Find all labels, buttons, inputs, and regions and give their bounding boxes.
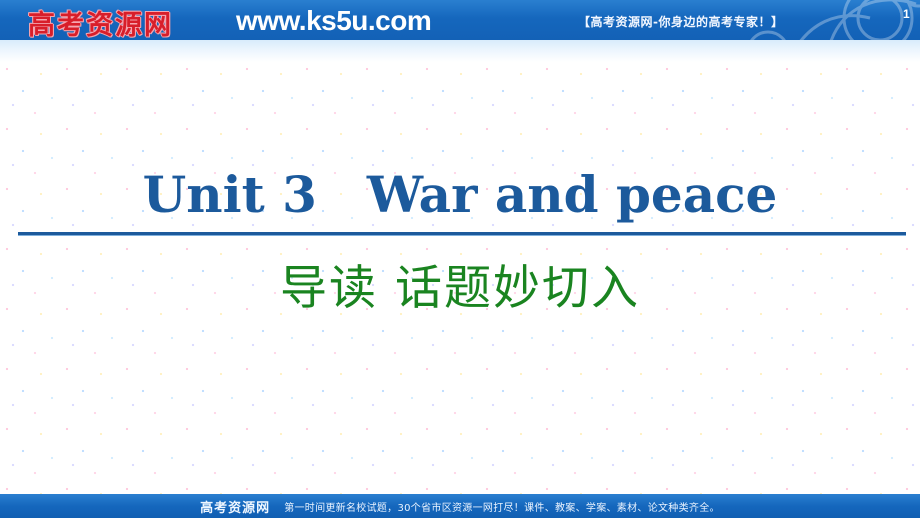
footer-logo-chinese: 高考资源网 [200, 497, 270, 516]
site-url-text[interactable]: www.ks5u.com [236, 5, 431, 37]
site-tagline: 【高考资源网-你身边的高考专家！】 [578, 13, 783, 30]
slide-title: Unit 3 War and peace [0, 155, 920, 227]
footer-banner: 高考资源网 第一时间更新名校试题，30个省市区资源一网打尽！课件、教案、学案、素… [0, 494, 920, 518]
slide-subtitle: 导读 话题妙切入 [0, 249, 920, 318]
page-number: 1 [903, 7, 910, 21]
header-banner: 高考资源网 www.ks5u.com 【高考资源网-你身边的高考专家！】 1 [0, 0, 920, 40]
site-logo-chinese: 高考资源网 [28, 3, 173, 40]
header-gradient-band [0, 40, 920, 62]
title-divider [18, 232, 906, 236]
presentation-slide: 高考资源网 www.ks5u.com 【高考资源网-你身边的高考专家！】 1 U… [0, 0, 920, 518]
footer-slogan: 第一时间更新名校试题，30个省市区资源一网打尽！课件、教案、学案、素材、论文种类… [284, 499, 720, 514]
